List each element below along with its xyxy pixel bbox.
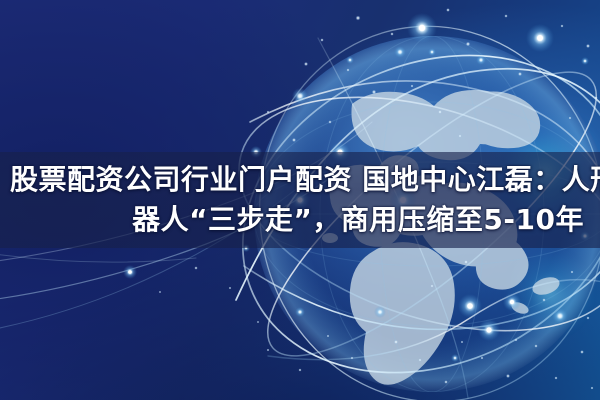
headline: 股票配资公司行业门户配资 国地中心江磊：人形机 器人“三步走”，商用压缩至5-1… [0,152,600,248]
headline-line-1: 股票配资公司行业门户配资 国地中心江磊：人形机 [10,160,592,200]
news-banner: 股票配资公司行业门户配资 国地中心江磊：人形机 器人“三步走”，商用压缩至5-1… [0,0,600,400]
headline-line-2: 器人“三步走”，商用压缩至5-10年 [10,200,592,240]
